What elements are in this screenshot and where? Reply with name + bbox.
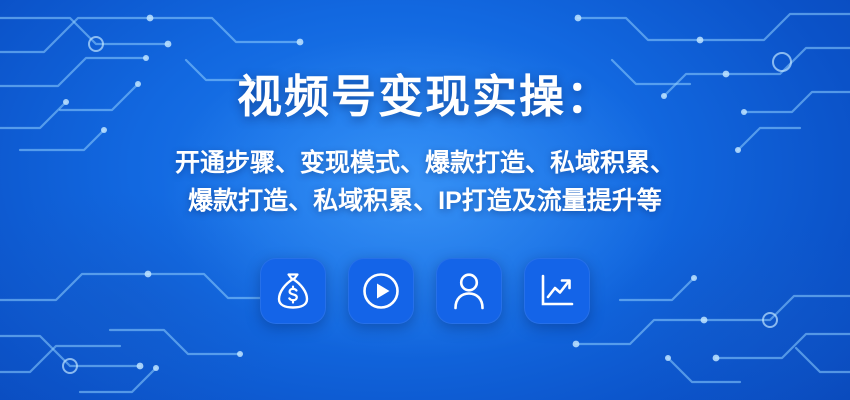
- user-person-icon: [452, 271, 486, 311]
- subtitle-line-1: 开通步骤、变现模式、爆款打造、私域积累、: [175, 144, 675, 182]
- user-person-icon-tile[interactable]: [436, 258, 502, 324]
- growth-chart-icon: [539, 273, 575, 309]
- money-bag-icon: [275, 272, 311, 310]
- promo-banner: 视频号变现实操： 开通步骤、变现模式、爆款打造、私域积累、 爆款打造、私域积累、…: [0, 0, 850, 400]
- subtitle-block: 开通步骤、变现模式、爆款打造、私域积累、 爆款打造、私域积累、IP打造及流量提升…: [175, 144, 675, 220]
- icon-row: [0, 258, 850, 324]
- play-button-icon-tile[interactable]: [348, 258, 414, 324]
- banner-content: 视频号变现实操： 开通步骤、变现模式、爆款打造、私域积累、 爆款打造、私域积累、…: [0, 0, 850, 400]
- money-bag-icon-tile[interactable]: [260, 258, 326, 324]
- subtitle-line-2: 爆款打造、私域积累、IP打造及流量提升等: [175, 182, 675, 220]
- page-title: 视频号变现实操：: [237, 74, 613, 119]
- growth-chart-icon-tile[interactable]: [524, 258, 590, 324]
- play-button-icon: [361, 271, 401, 311]
